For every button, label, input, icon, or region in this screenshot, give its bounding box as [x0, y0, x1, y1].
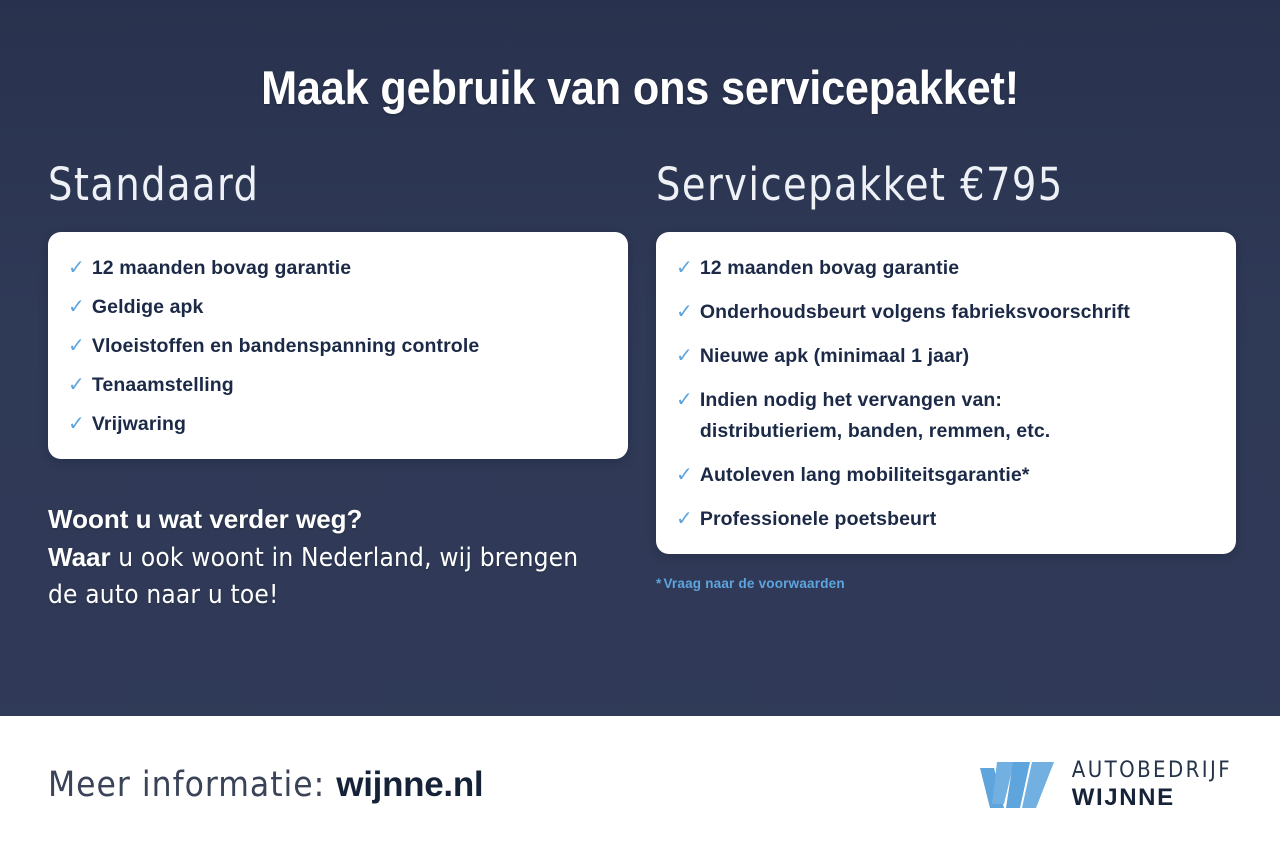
list-item: ✓ Vloeistoffen en bandenspanning control… [68, 334, 602, 359]
list-item: ✓ Geldige apk [68, 295, 602, 320]
delivery-note-question: Woont u wat verder weg? [48, 504, 362, 534]
check-icon: ✓ [676, 463, 693, 488]
service-feature-list: ✓ 12 maanden bovag garantie ✓ Onderhouds… [676, 256, 1210, 533]
list-item: ✓ Onderhoudsbeurt volgens fabrieksvoorsc… [676, 300, 1210, 325]
standard-package-card: ✓ 12 maanden bovag garantie ✓ Geldige ap… [48, 232, 628, 459]
check-icon: ✓ [68, 295, 85, 320]
check-icon: ✓ [676, 388, 693, 413]
feature-text: 12 maanden bovag garantie [700, 256, 959, 281]
feature-text: Nieuwe apk (minimaal 1 jaar) [700, 344, 969, 369]
logo-top-text: AUTOBEDRIJF [1072, 760, 1232, 782]
packages-columns: Standaard ✓ 12 maanden bovag garantie ✓ … [0, 160, 1280, 615]
logo-wordmark: AUTOBEDRIJF WIJNNE [1072, 760, 1232, 810]
service-package-card: ✓ 12 maanden bovag garantie ✓ Onderhouds… [656, 232, 1236, 555]
check-icon: ✓ [68, 256, 85, 281]
page-title: Maak gebruik van ons servicepakket! [51, 60, 1229, 115]
feature-text: Professionele poetsbeurt [700, 507, 936, 532]
list-item: ✓ 12 maanden bovag garantie [68, 256, 602, 281]
page-footer: Meer informatie: wijnne.nl AUTOBEDRIJF W… [0, 716, 1280, 853]
list-item: ✓ Tenaamstelling [68, 373, 602, 398]
feature-subtext: distributieriem, banden, remmen, etc. [700, 419, 1050, 444]
feature-text: Vloeistoffen en bandenspanning controle [92, 334, 479, 359]
check-icon: ✓ [676, 344, 693, 369]
logo-bottom-text: WIJNNE [1072, 786, 1232, 810]
list-item: ✓ Vrijwaring [68, 412, 602, 437]
feature-text: Tenaamstelling [92, 373, 234, 398]
check-icon: ✓ [68, 373, 85, 398]
list-item: ✓ Professionele poetsbeurt [676, 507, 1210, 532]
delivery-note-lead: Waar [48, 542, 111, 572]
standard-package-column: Standaard ✓ 12 maanden bovag garantie ✓ … [0, 160, 640, 615]
website-link[interactable]: wijnne.nl [336, 765, 483, 804]
check-icon: ✓ [676, 300, 693, 325]
check-icon: ✓ [676, 507, 693, 532]
delivery-note: Woont u wat verder weg? Waar u ook woont… [48, 501, 588, 615]
asterisk-marker: * [656, 576, 661, 591]
feature-text: Vrijwaring [92, 412, 186, 437]
conditions-footnote: *Vraag naar de voorwaarden [656, 576, 1232, 591]
list-item: ✓ Nieuwe apk (minimaal 1 jaar) [676, 344, 1210, 369]
service-package-column: Servicepakket €795 ✓ 12 maanden bovag ga… [640, 160, 1280, 615]
list-item: ✓ Autoleven lang mobiliteitsgarantie* [676, 463, 1210, 488]
feature-text: Indien nodig het vervangen van: [700, 388, 1050, 413]
company-logo[interactable]: AUTOBEDRIJF WIJNNE [980, 760, 1232, 810]
hero-banner: Maak gebruik van ons servicepakket! Stan… [0, 0, 1280, 716]
standard-package-heading: Standaard [48, 160, 599, 210]
list-item: ✓ 12 maanden bovag garantie [676, 256, 1210, 281]
delivery-note-rest: u ook woont in Nederland, wij brengen de… [48, 543, 578, 610]
more-info-line: Meer informatie: wijnne.nl [48, 765, 483, 805]
feature-text: Geldige apk [92, 295, 204, 320]
service-package-heading: Servicepakket €795 [656, 160, 1203, 210]
conditions-footnote-text: Vraag naar de voorwaarden [663, 576, 844, 591]
feature-text: Autoleven lang mobiliteitsgarantie* [700, 463, 1030, 488]
feature-text: 12 maanden bovag garantie [92, 256, 351, 281]
wijnne-w-logo-icon [980, 762, 1054, 808]
more-info-label: Meer informatie: [48, 765, 336, 805]
list-item: ✓ Indien nodig het vervangen van: distri… [676, 388, 1210, 445]
standard-feature-list: ✓ 12 maanden bovag garantie ✓ Geldige ap… [68, 256, 602, 437]
check-icon: ✓ [68, 412, 85, 437]
check-icon: ✓ [676, 256, 693, 281]
feature-text: Onderhoudsbeurt volgens fabrieksvoorschr… [700, 300, 1130, 325]
check-icon: ✓ [68, 334, 85, 359]
